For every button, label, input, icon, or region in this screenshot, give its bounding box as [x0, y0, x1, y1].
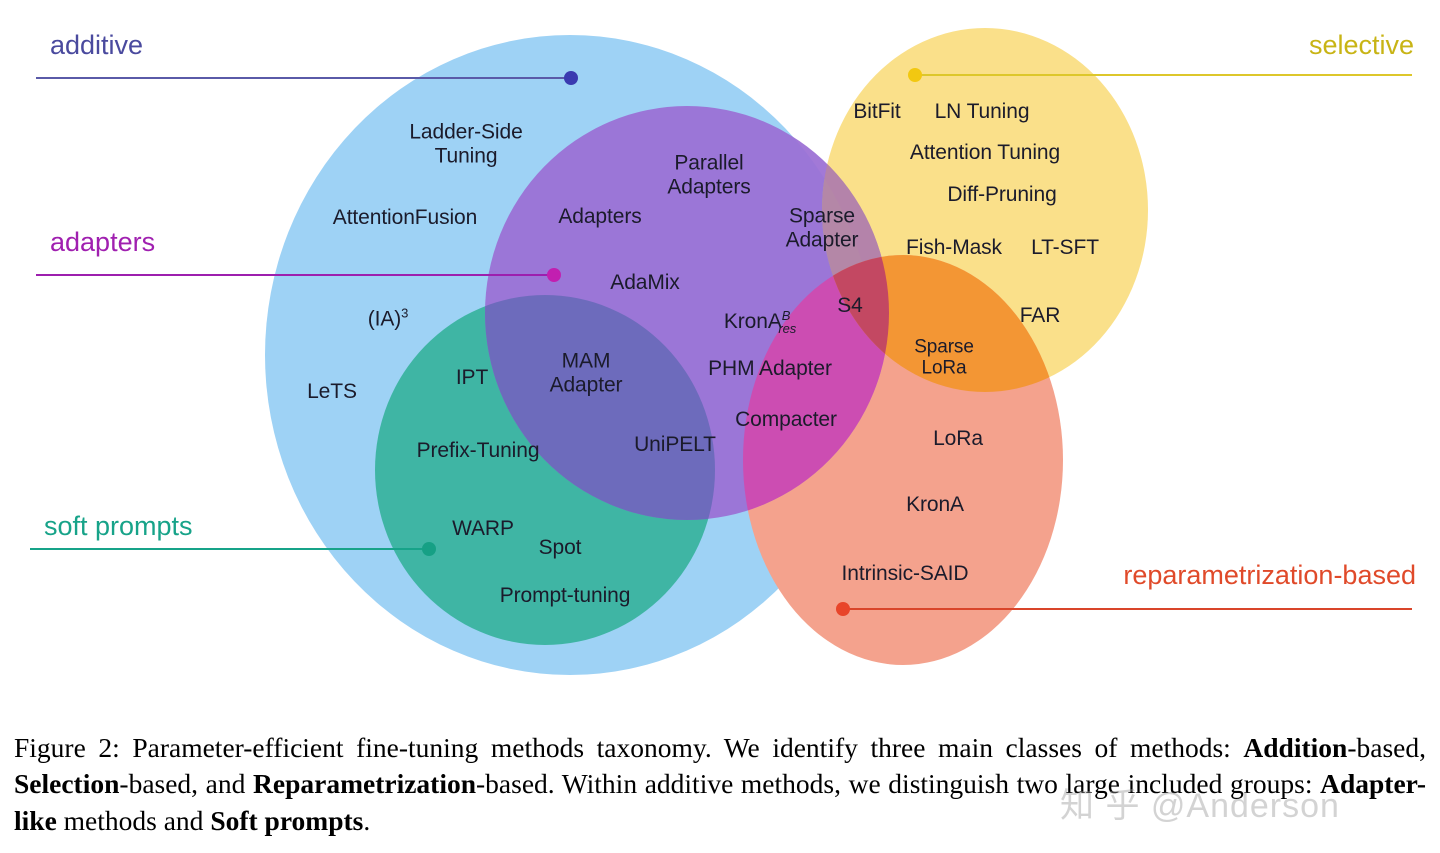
figure-canvas: Ladder-Side Tuning AttentionFusion (IA)3… [0, 0, 1440, 853]
leader-line-reparametrization [842, 608, 1412, 610]
leader-line-soft-prompts [30, 548, 428, 550]
leader-line-additive [36, 77, 570, 79]
leader-line-adapters [36, 274, 553, 276]
category-label-adapters: adapters [50, 227, 155, 258]
figure-caption: Figure 2: Parameter-efficient fine-tunin… [14, 730, 1426, 839]
leader-dot-adapters [547, 268, 561, 282]
leader-dot-selective [908, 68, 922, 82]
leader-dot-soft-prompts [422, 542, 436, 556]
category-label-additive: additive [50, 30, 143, 61]
category-label-soft-prompts: soft prompts [44, 511, 193, 542]
category-label-selective: selective [1309, 30, 1414, 61]
leader-line-selective [915, 74, 1412, 76]
leader-dot-reparametrization [836, 602, 850, 616]
venn-diagram [0, 0, 1440, 720]
category-label-reparametrization: reparametrization-based [1123, 560, 1416, 591]
leader-dot-additive [564, 71, 578, 85]
